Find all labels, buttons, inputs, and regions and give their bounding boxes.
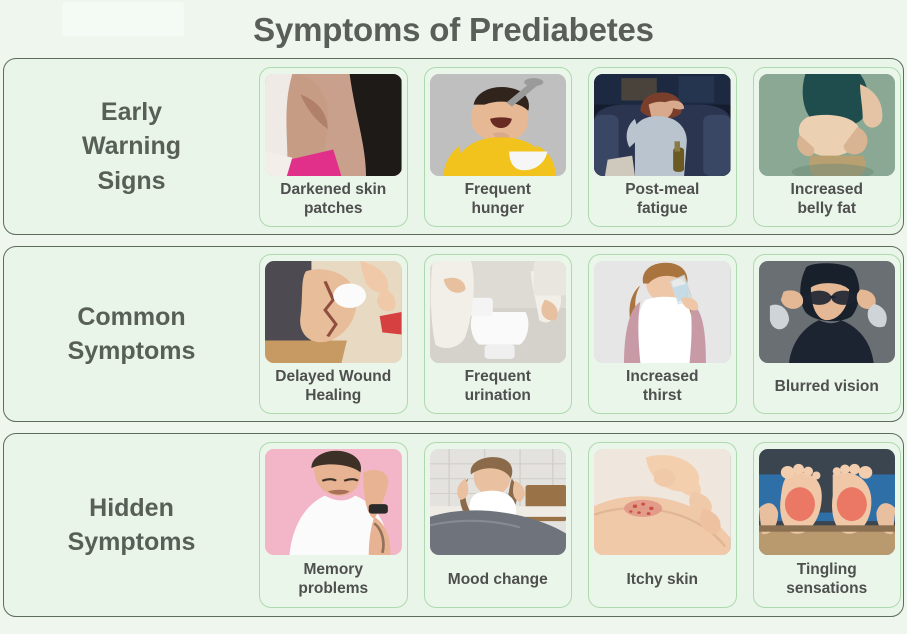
symptom-card[interactable]: Increased thirst <box>588 254 737 414</box>
symptom-row-common-symptoms: Common Symptoms Delaye <box>3 246 904 422</box>
symptom-row-hidden-symptoms: Hidden Symptoms <box>3 433 904 617</box>
symptom-card-label: Delayed Wound Healing <box>265 363 402 409</box>
row-label-common-symptoms: Common Symptoms <box>4 247 259 421</box>
symptom-card-label: Frequent urination <box>430 363 567 409</box>
symptom-card-label: Memory problems <box>265 555 402 603</box>
card-list-common-symptoms: Delayed Wound Healing <box>259 247 903 421</box>
man-eating-cereal-photo <box>430 74 567 176</box>
symptom-card-label: Blurred vision <box>759 363 896 409</box>
symptom-card[interactable]: Itchy skin <box>588 442 737 608</box>
person-at-toilet-photo <box>430 261 567 363</box>
symptom-card-label: Frequent hunger <box>430 176 567 222</box>
symptom-card[interactable]: Blurred vision <box>753 254 902 414</box>
symptom-card[interactable]: Post-meal fatigue <box>588 67 737 227</box>
symptom-card[interactable]: Frequent urination <box>424 254 573 414</box>
symptom-card[interactable]: Frequent hunger <box>424 67 573 227</box>
symptom-card[interactable]: Tingling sensations <box>753 442 902 608</box>
card-list-hidden-symptoms: Memory problems <box>259 434 903 616</box>
symptom-card-label: Post-meal fatigue <box>594 176 731 222</box>
symptom-card-label: Darkened skin patches <box>265 176 402 222</box>
tired-woman-on-couch-photo <box>594 74 731 176</box>
row-label-hidden-symptoms: Hidden Symptoms <box>4 434 259 616</box>
symptom-card[interactable]: Memory problems <box>259 442 408 608</box>
man-belly-fat-photo <box>759 74 896 176</box>
symptom-card[interactable]: Delayed Wound Healing <box>259 254 408 414</box>
symptom-card-label: Mood change <box>430 555 567 603</box>
symptom-row-early-warning-signs: Early Warning Signs Darkened skin patche… <box>3 58 904 235</box>
symptom-card-label: Tingling sensations <box>759 555 896 603</box>
symptom-card-label: Increased thirst <box>594 363 731 409</box>
symptom-card[interactable]: Increased belly fat <box>753 67 902 227</box>
page-title: Symptoms of Prediabetes <box>0 0 907 46</box>
card-list-early-warning-signs: Darkened skin patches <box>259 59 903 234</box>
symptom-card-label: Increased belly fat <box>759 176 896 222</box>
symptom-card[interactable]: Mood change <box>424 442 573 608</box>
symptom-rows: Early Warning Signs Darkened skin patche… <box>0 58 907 617</box>
wound-care-on-knee-photo <box>265 261 402 363</box>
scratching-itchy-arm-photo <box>594 449 731 555</box>
darkened-neck-skin-photo <box>265 74 402 176</box>
woman-adjusting-glasses-photo <box>759 261 896 363</box>
tingling-feet-photo <box>759 449 896 555</box>
woman-drinking-water-photo <box>594 261 731 363</box>
row-label-early-warning-signs: Early Warning Signs <box>4 59 259 234</box>
sad-woman-in-bed-photo <box>430 449 567 555</box>
symptom-card[interactable]: Darkened skin patches <box>259 67 408 227</box>
symptom-card-label: Itchy skin <box>594 555 731 603</box>
man-thinking-photo <box>265 449 402 555</box>
